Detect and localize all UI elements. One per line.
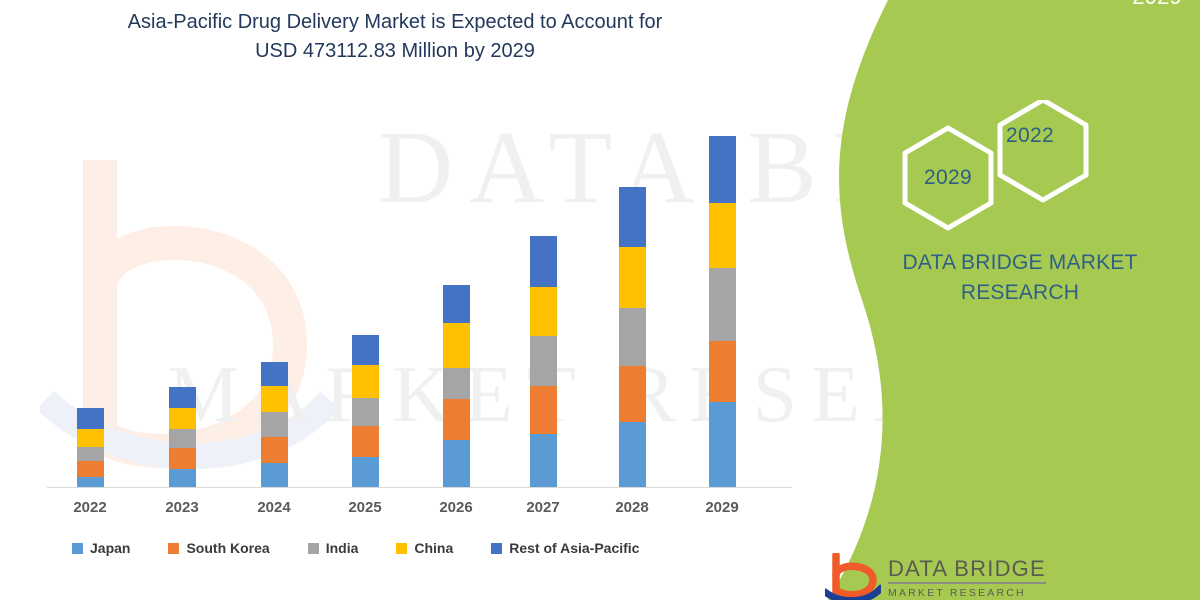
bar-2028 xyxy=(619,187,646,487)
legend-label: Japan xyxy=(90,540,130,556)
bar-2027 xyxy=(530,236,557,487)
bar-segment-china xyxy=(443,323,470,367)
company-logo: DATA BRIDGE MARKET RESEARCH xyxy=(825,553,1046,600)
bar-segment-rest-of-asia-pacific xyxy=(619,187,646,247)
hexagon-label-2022: 2022 xyxy=(1006,124,1054,148)
bar-segment-china xyxy=(352,365,379,397)
x-axis-line xyxy=(47,487,792,488)
bar-2024 xyxy=(261,362,288,487)
x-axis-label-2024: 2024 xyxy=(239,499,309,516)
bar-segment-japan xyxy=(352,457,379,487)
bar-segment-south-korea xyxy=(443,399,470,439)
bar-segment-japan xyxy=(619,422,646,487)
bar-segment-rest-of-asia-pacific xyxy=(261,362,288,386)
x-axis-labels: 20222023202420252026202720282029 xyxy=(0,499,900,521)
bar-segment-south-korea xyxy=(169,448,196,468)
bar-segment-india xyxy=(443,368,470,399)
bar-segment-rest-of-asia-pacific xyxy=(530,236,557,287)
bar-segment-japan xyxy=(169,469,196,487)
chart-area: Asia-Pacific Drug Delivery Market is Exp… xyxy=(0,0,900,600)
bar-segment-japan xyxy=(261,463,288,487)
panel-top-text: 2029 xyxy=(852,0,1182,10)
legend-swatch-icon xyxy=(308,543,319,554)
legend-item-china: China xyxy=(396,540,453,556)
bar-segment-south-korea xyxy=(709,341,736,401)
bar-segment-india xyxy=(530,336,557,386)
logo-text-block: DATA BRIDGE MARKET RESEARCH xyxy=(888,553,1046,600)
hexagon-label-2029: 2029 xyxy=(924,166,972,190)
bar-segment-south-korea xyxy=(619,366,646,421)
bar-segment-japan xyxy=(530,434,557,487)
bar-segment-japan xyxy=(77,477,104,487)
bar-segment-rest-of-asia-pacific xyxy=(77,408,104,429)
x-axis-label-2026: 2026 xyxy=(421,499,491,516)
logo-title: DATA BRIDGE xyxy=(888,557,1046,584)
legend-item-india: India xyxy=(308,540,359,556)
bar-segment-rest-of-asia-pacific xyxy=(352,335,379,365)
x-axis-label-2029: 2029 xyxy=(687,499,757,516)
bar-segment-china xyxy=(619,247,646,307)
bar-segment-india xyxy=(261,412,288,438)
bar-segment-india xyxy=(77,447,104,461)
chart-legend: JapanSouth KoreaIndiaChinaRest of Asia-P… xyxy=(72,540,677,556)
infographic-root: DATA BRIDGE MARKET RESEARCH Asia-Pacific… xyxy=(0,0,1200,600)
bar-segment-south-korea xyxy=(77,461,104,477)
legend-label: India xyxy=(326,540,359,556)
legend-label: Rest of Asia-Pacific xyxy=(509,540,639,556)
bar-segment-south-korea xyxy=(530,386,557,433)
bar-2029 xyxy=(709,136,736,487)
bar-segment-rest-of-asia-pacific xyxy=(709,136,736,203)
bar-segment-japan xyxy=(709,402,736,487)
x-axis-label-2023: 2023 xyxy=(147,499,217,516)
bar-segment-south-korea xyxy=(352,426,379,456)
bar-segment-india xyxy=(709,268,736,341)
bar-segment-china xyxy=(169,408,196,428)
legend-item-rest-of-asia-pacific: Rest of Asia-Pacific xyxy=(491,540,639,556)
legend-swatch-icon xyxy=(491,543,502,554)
bar-segment-rest-of-asia-pacific xyxy=(169,387,196,408)
bar-segment-china xyxy=(261,386,288,412)
bar-2026 xyxy=(443,285,470,487)
hexagon-group: 2029 2022 xyxy=(888,100,1118,240)
bar-segment-india xyxy=(352,398,379,426)
brand-panel: 2029 2029 2022 DATA BRIDGE MARKET RESEAR… xyxy=(770,0,1200,600)
bar-segment-india xyxy=(619,308,646,366)
legend-swatch-icon xyxy=(72,543,83,554)
bar-segment-japan xyxy=(443,440,470,487)
bar-segment-china xyxy=(709,203,736,267)
legend-label: China xyxy=(414,540,453,556)
logo-subtitle: MARKET RESEARCH xyxy=(888,584,1046,600)
legend-item-south-korea: South Korea xyxy=(168,540,269,556)
panel-brand-text: DATA BRIDGE MARKET RESEARCH xyxy=(770,248,1200,308)
legend-swatch-icon xyxy=(168,543,179,554)
bar-segment-south-korea xyxy=(261,437,288,463)
legend-label: South Korea xyxy=(186,540,269,556)
x-axis-label-2022: 2022 xyxy=(55,499,125,516)
bar-2025 xyxy=(352,335,379,487)
data-bridge-b-logo-icon xyxy=(825,553,881,600)
bar-2023 xyxy=(169,387,196,487)
hexagon-shapes-icon xyxy=(888,100,1118,240)
bar-segment-china xyxy=(77,429,104,447)
bar-segment-china xyxy=(530,287,557,335)
legend-item-japan: Japan xyxy=(72,540,130,556)
bar-segment-rest-of-asia-pacific xyxy=(443,285,470,323)
legend-swatch-icon xyxy=(396,543,407,554)
x-axis-label-2028: 2028 xyxy=(597,499,667,516)
bar-2022 xyxy=(77,408,104,487)
bar-segment-india xyxy=(169,429,196,448)
x-axis-label-2025: 2025 xyxy=(330,499,400,516)
x-axis-label-2027: 2027 xyxy=(508,499,578,516)
